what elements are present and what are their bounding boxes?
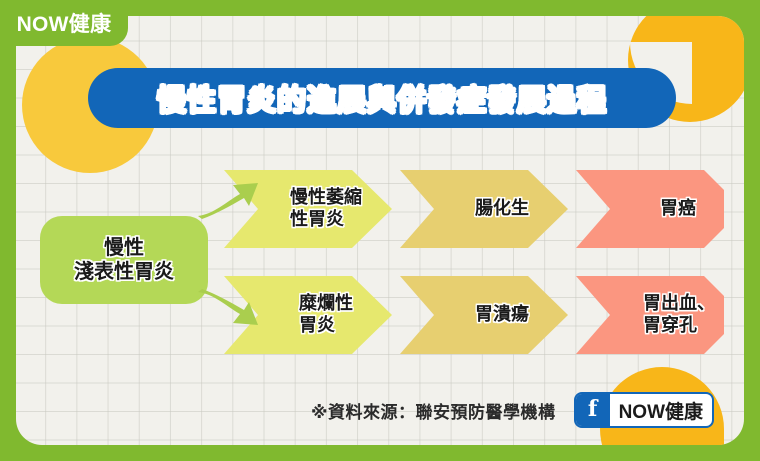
flow-step-top-1-line1: 慢性萎縮 xyxy=(290,187,362,209)
title-pill: 慢性胃炎的進展與併發症發展過程 xyxy=(88,68,676,128)
page-title: 慢性胃炎的進展與併發症發展過程 xyxy=(157,77,607,119)
flow-start-node: 慢性 淺表性胃炎 xyxy=(40,216,208,304)
facebook-badge-label: NOW健康 xyxy=(610,397,712,424)
flow-step-top-1[interactable]: 慢性萎縮 性胃炎 xyxy=(256,170,396,248)
flow-step-top-1-line2: 性胃炎 xyxy=(290,209,362,231)
flow-step-top-2[interactable]: 腸化生 xyxy=(432,170,572,248)
flow-step-bottom-3-line1: 胃出血、 xyxy=(643,293,715,315)
source-note: ※資料來源：聯安預防醫學機構 xyxy=(311,398,556,423)
flow-start-node-line2: 淺表性胃炎 xyxy=(74,260,174,284)
brand-tab-label: NOW健康 xyxy=(17,8,112,38)
flow-step-bottom-1-line2: 胃炎 xyxy=(299,315,353,337)
flow-step-bottom-3[interactable]: 胃出血、 胃穿孔 xyxy=(604,276,754,354)
brand-tab[interactable]: NOW健康 xyxy=(0,0,128,46)
flow-step-top-3[interactable]: 胃癌 xyxy=(608,170,748,248)
flow-step-bottom-2-line1: 胃潰瘍 xyxy=(475,304,529,326)
flow-step-bottom-3-line2: 胃穿孔 xyxy=(643,315,715,337)
flow-step-top-2-line1: 腸化生 xyxy=(475,198,529,220)
flow-step-bottom-1[interactable]: 糜爛性 胃炎 xyxy=(256,276,396,354)
facebook-badge[interactable]: f NOW健康 xyxy=(574,392,714,428)
connector-arrow-up-icon xyxy=(196,176,260,220)
page-title-text: 慢性胃炎的進展與併發症發展過程 xyxy=(157,85,607,117)
facebook-f-icon: f xyxy=(576,394,610,426)
flow-step-bottom-1-line1: 糜爛性 xyxy=(299,293,353,315)
footer: ※資料來源：聯安預防醫學機構 f NOW健康 xyxy=(0,393,760,427)
infographic-canvas: NOW健康 慢性胃炎的進展與併發症發展過程 慢性 淺表性胃炎 慢性萎縮 性胃炎 xyxy=(0,0,760,461)
connector-arrow-down-icon xyxy=(196,288,260,332)
flow-step-top-3-line1: 胃癌 xyxy=(660,198,696,220)
yellow-square-bottom-right-decoration xyxy=(662,429,724,445)
flow-step-bottom-2[interactable]: 胃潰瘍 xyxy=(432,276,572,354)
flow-start-node-line1: 慢性 xyxy=(104,236,144,260)
